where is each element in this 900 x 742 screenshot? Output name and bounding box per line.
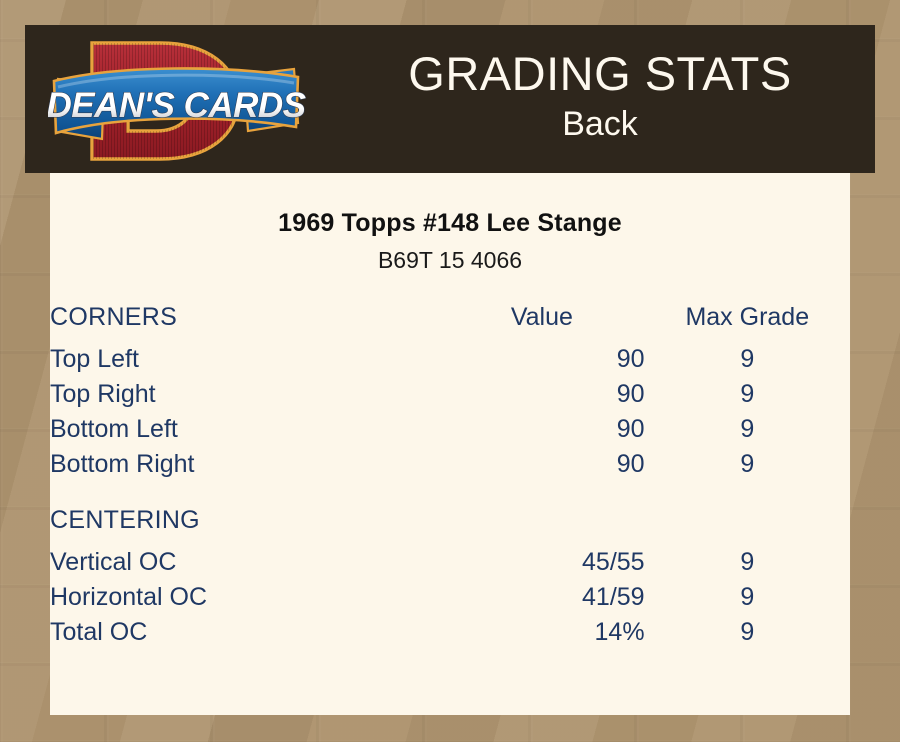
row-max-grade-vertical-oc: 9 bbox=[645, 548, 850, 583]
row-max-grade-top-right: 9 bbox=[645, 380, 850, 415]
page-subtitle: Back bbox=[562, 104, 638, 145]
row-label-horizontal-oc: Horizontal OC bbox=[50, 583, 439, 618]
row-value-vertical-oc: 45/55 bbox=[439, 548, 644, 583]
row-max-grade-top-left: 9 bbox=[645, 345, 850, 380]
deans-cards-logo[interactable]: DEAN'S CARDS bbox=[48, 31, 310, 171]
logo-banner-text: DEAN'S CARDS bbox=[48, 86, 306, 125]
column-header-max-grade: Max Grade bbox=[645, 303, 850, 345]
row-value-top-right: 90 bbox=[439, 380, 644, 415]
header-bar: DEAN'S CARDS GRADING STATS Back bbox=[25, 25, 875, 173]
row-value-bottom-left: 90 bbox=[439, 415, 644, 450]
column-header-value: Value bbox=[439, 303, 644, 345]
spacer-cell bbox=[50, 485, 850, 506]
row-value-horizontal-oc: 41/59 bbox=[439, 583, 644, 618]
table-row: Vertical OC45/559 bbox=[50, 548, 850, 583]
row-value-total-oc: 14% bbox=[439, 618, 644, 653]
grading-stats-table: CORNERSValueMax GradeTop Left909Top Righ… bbox=[50, 303, 850, 653]
row-label-bottom-left: Bottom Left bbox=[50, 415, 439, 450]
table-row: Top Right909 bbox=[50, 380, 850, 415]
row-max-grade-horizontal-oc: 9 bbox=[645, 583, 850, 618]
table-row: Top Left909 bbox=[50, 345, 850, 380]
table-row: Horizontal OC41/599 bbox=[50, 583, 850, 618]
row-label-top-right: Top Right bbox=[50, 380, 439, 415]
row-label-top-left: Top Left bbox=[50, 345, 439, 380]
header-titles: GRADING STATS Back bbox=[325, 25, 875, 173]
row-max-grade-bottom-right: 9 bbox=[645, 450, 850, 485]
row-max-grade-bottom-left: 9 bbox=[645, 415, 850, 450]
row-label-total-oc: Total OC bbox=[50, 618, 439, 653]
table-row: Bottom Left909 bbox=[50, 415, 850, 450]
table-row: Total OC14%9 bbox=[50, 618, 850, 653]
table-spacer-row bbox=[50, 485, 850, 506]
section-heading-corners: CORNERS bbox=[50, 303, 439, 345]
card-serial-number: B69T 15 4066 bbox=[50, 247, 850, 274]
section-heading-centering: CENTERING bbox=[50, 506, 850, 548]
row-label-bottom-right: Bottom Right bbox=[50, 450, 439, 485]
row-label-vertical-oc: Vertical OC bbox=[50, 548, 439, 583]
page-title: GRADING STATS bbox=[408, 49, 791, 98]
table-section-row: CENTERING bbox=[50, 506, 850, 548]
table-row: Bottom Right909 bbox=[50, 450, 850, 485]
content-panel: 1969 Topps #148 Lee Stange B69T 15 4066 … bbox=[50, 173, 850, 715]
row-max-grade-total-oc: 9 bbox=[645, 618, 850, 653]
grading-stats-page: DEAN'S CARDS GRADING STATS Back 1969 Top… bbox=[0, 0, 900, 742]
card-title: 1969 Topps #148 Lee Stange bbox=[50, 209, 850, 238]
row-value-top-left: 90 bbox=[439, 345, 644, 380]
table-header-row: CORNERSValueMax Grade bbox=[50, 303, 850, 345]
row-value-bottom-right: 90 bbox=[439, 450, 644, 485]
